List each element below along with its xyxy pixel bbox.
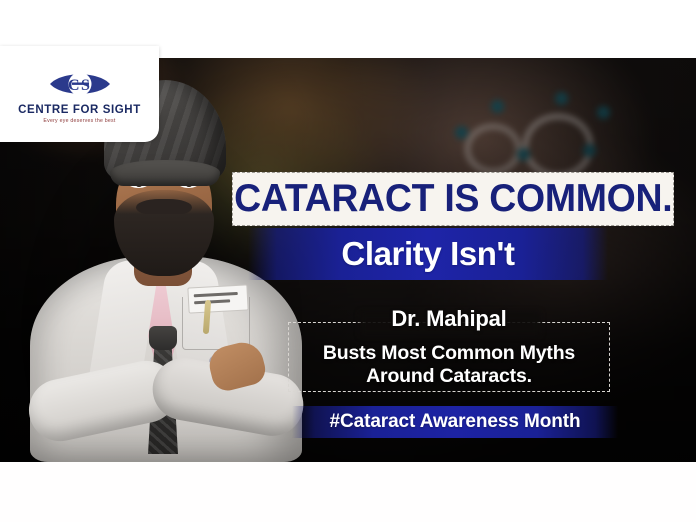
svg-text:C: C bbox=[68, 77, 80, 94]
subtitle-band: Clarity Isn't bbox=[248, 228, 608, 280]
speaker-description: Busts Most Common Myths Around Cataracts… bbox=[288, 342, 610, 388]
headline-line1: CATARACT IS COMMON. bbox=[234, 177, 672, 221]
headline-band: CATARACT IS COMMON. bbox=[232, 172, 674, 226]
brand-logo-plate[interactable]: C S CENTRE FOR SIGHT Every eye deserves … bbox=[0, 46, 159, 142]
name-badge bbox=[187, 284, 248, 313]
headline-line2: Clarity Isn't bbox=[341, 235, 514, 273]
necktie-knot bbox=[149, 326, 177, 350]
brand-tagline: Every eye deserves the best bbox=[43, 118, 115, 124]
turban-fold bbox=[110, 160, 220, 186]
letterbox-bottom bbox=[0, 462, 696, 522]
brand-name: CENTRE FOR SIGHT bbox=[18, 104, 141, 116]
hashtag-text: #Cataract Awareness Month bbox=[330, 411, 581, 433]
eye-logo-icon: C S bbox=[48, 69, 112, 99]
hashtag-band: #Cataract Awareness Month bbox=[292, 406, 618, 438]
svg-text:S: S bbox=[81, 77, 90, 94]
speaker-description-line1: Busts Most Common Myths bbox=[288, 342, 610, 365]
moustache bbox=[136, 199, 192, 214]
cataract-awareness-poster: C S CENTRE FOR SIGHT Every eye deserves … bbox=[0, 0, 696, 522]
speaker-description-line2: Around Cataracts. bbox=[288, 365, 610, 388]
speaker-name: Dr. Mahipal bbox=[288, 306, 610, 332]
